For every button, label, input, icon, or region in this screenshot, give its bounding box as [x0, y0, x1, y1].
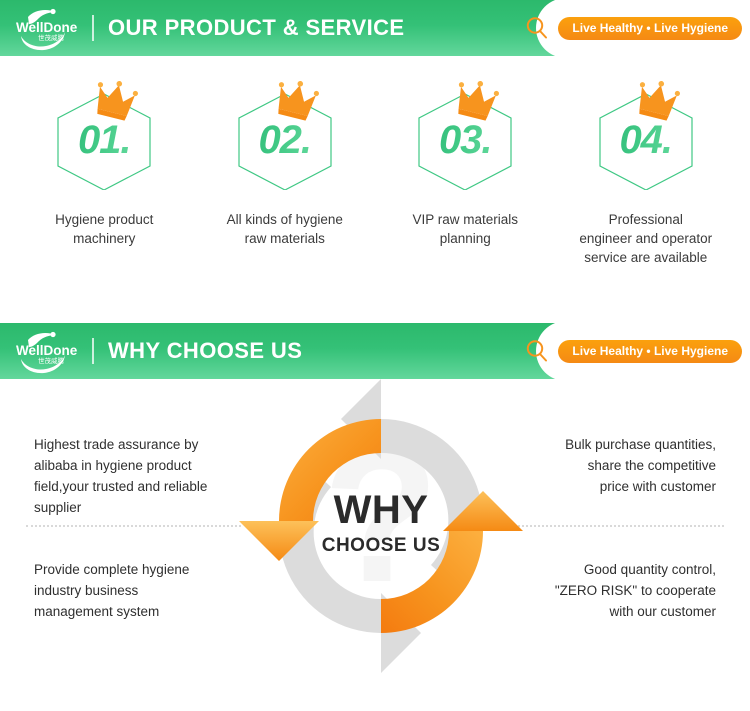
card-item-01[interactable]: 01. Hygiene product machinery	[14, 82, 195, 267]
card-label-03: VIP raw materials planning	[412, 210, 518, 248]
card-number-03: 03.	[410, 90, 520, 190]
logo-wordmark-cn: 世茂威腾	[38, 33, 65, 42]
card-label-04: Professional engineer and operator servi…	[579, 210, 712, 267]
logo-wordmark: WellDone	[16, 343, 78, 358]
banner-divider	[92, 338, 94, 364]
hexagon-badge-03: 03.	[410, 82, 520, 194]
card-label-01: Hygiene product machinery	[55, 210, 153, 248]
divider-left	[26, 525, 241, 527]
tagline-badge: Live Healthy • Live Hygiene	[558, 17, 742, 40]
hexagon-badge-04: 04.	[591, 82, 701, 194]
card-item-04[interactable]: 04. Professional engineer and operator s…	[556, 82, 737, 267]
banner-our-product-service: WellDone 世茂威腾 OUR PRODUCT & SERVICE Live…	[0, 0, 750, 56]
why-choose-us-body: Highest trade assurance by alibaba in hy…	[0, 379, 750, 697]
card-number-02: 02.	[230, 90, 340, 190]
benefit-text-top-left: Highest trade assurance by alibaba in hy…	[34, 434, 249, 518]
card-item-03[interactable]: 03. VIP raw materials planning	[375, 82, 556, 267]
benefit-text-top-right: Bulk purchase quantities, share the comp…	[501, 434, 716, 497]
section-title-why-choose-us: WHY CHOOSE US	[108, 338, 302, 364]
card-label-02: All kinds of hygiene raw materials	[227, 210, 343, 248]
logo-wordmark: WellDone	[16, 20, 78, 35]
logo-wordmark-cn: 世茂威腾	[38, 356, 65, 365]
why-choose-us-section: WellDone 世茂威腾 WHY CHOOSE US Live Healthy…	[0, 323, 750, 697]
hexagon-badge-02: 02.	[230, 82, 340, 194]
search-icon[interactable]	[524, 338, 550, 364]
search-icon[interactable]	[524, 15, 550, 41]
banner-tagline-group: Live Healthy • Live Hygiene	[524, 0, 742, 56]
card-number-01: 01.	[49, 90, 159, 190]
banner-tagline-group: Live Healthy • Live Hygiene	[524, 323, 742, 379]
brand-logo[interactable]: WellDone 世茂威腾	[12, 328, 84, 374]
product-service-card-list: 01. Hygiene product machinery	[0, 82, 750, 267]
card-number-04: 04.	[591, 90, 701, 190]
benefit-text-bottom-right: Good quantity control, "ZERO RISK" to co…	[501, 559, 716, 622]
divider-right	[509, 525, 724, 527]
section-title-product-service: OUR PRODUCT & SERVICE	[108, 15, 404, 41]
page-root: WellDone 世茂威腾 OUR PRODUCT & SERVICE Live…	[0, 0, 750, 711]
benefit-text-bottom-left: Provide complete hygiene industry busine…	[34, 559, 249, 622]
card-item-02[interactable]: 02. All kinds of hygiene raw materials	[195, 82, 376, 267]
tagline-badge: Live Healthy • Live Hygiene	[558, 340, 742, 363]
hexagon-badge-01: 01.	[49, 82, 159, 194]
banner-divider	[92, 15, 94, 41]
cycle-arrows-graphic: ?	[231, 371, 531, 681]
brand-logo[interactable]: WellDone 世茂威腾	[12, 5, 84, 51]
